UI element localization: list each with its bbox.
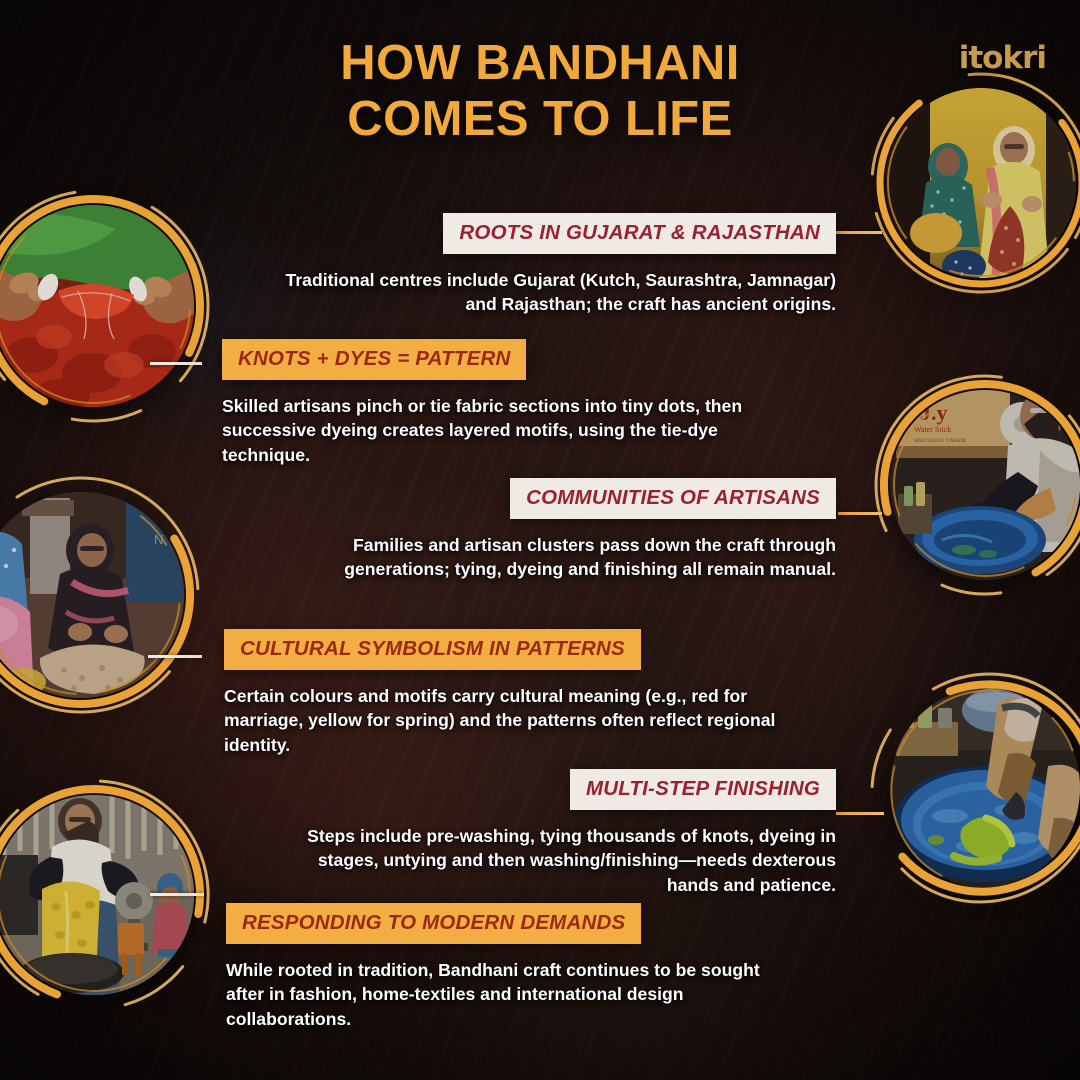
brand-logo[interactable]: itokri [959, 40, 1046, 76]
infographic-poster: HOW BANDHANI COMES TO LIFE itokri [0, 0, 1080, 1080]
section-4-heading: CULTURAL SYMBOLISM IN PATTERNS [224, 629, 641, 670]
connector-line-2 [150, 362, 202, 365]
photo-blue-dye-vat-closeup [890, 688, 1080, 888]
connector-line-5 [836, 812, 884, 815]
photo-women-tying-top-right [886, 88, 1076, 278]
section-5-heading: MULTI-STEP FINISHING [570, 769, 836, 810]
section-4-body: Certain colours and motifs carry cultura… [224, 684, 784, 757]
photo-hands-tying-red-fabric [0, 205, 194, 407]
section-2: KNOTS + DYES = PATTERN Skilled artisans … [222, 339, 782, 467]
section-2-heading: KNOTS + DYES = PATTERN [222, 339, 526, 380]
photo-woman-tying-cream-fabric: A N [0, 492, 184, 698]
section-6-body: While rooted in tradition, Bandhani craf… [226, 958, 786, 1031]
section-3-heading: COMMUNITIES OF ARTISANS [510, 478, 836, 519]
section-4: CULTURAL SYMBOLISM IN PATTERNS Certain c… [224, 629, 784, 757]
section-5-body: Steps include pre-washing, tying thousan… [300, 824, 836, 897]
connector-line-6 [150, 893, 204, 896]
section-6-heading: RESPONDING TO MODERN DEMANDS [226, 903, 641, 944]
photo-dyer-blue-vat: J.y Water Stick SPECIALIST 9 MADE [890, 390, 1080, 580]
section-2-body: Skilled artisans pinch or tie fabric sec… [222, 394, 782, 467]
section-5: MULTI-STEP FINISHING Steps include pre-w… [300, 769, 836, 897]
connector-line-1 [836, 231, 882, 234]
connector-line-3 [148, 655, 202, 658]
section-1-heading: ROOTS IN GUJARAT & RAJASTHAN [443, 213, 836, 254]
connector-line-4 [838, 512, 882, 515]
brand-logo-text: itokri [959, 40, 1046, 76]
section-3: COMMUNITIES OF ARTISANS Families and art… [248, 478, 836, 582]
section-3-body: Families and artisan clusters pass down … [248, 533, 836, 582]
section-6: RESPONDING TO MODERN DEMANDS While roote… [226, 903, 786, 1031]
section-1: ROOTS IN GUJARAT & RAJASTHAN Traditional… [260, 213, 836, 317]
section-1-body: Traditional centres include Gujarat (Kut… [260, 268, 836, 317]
